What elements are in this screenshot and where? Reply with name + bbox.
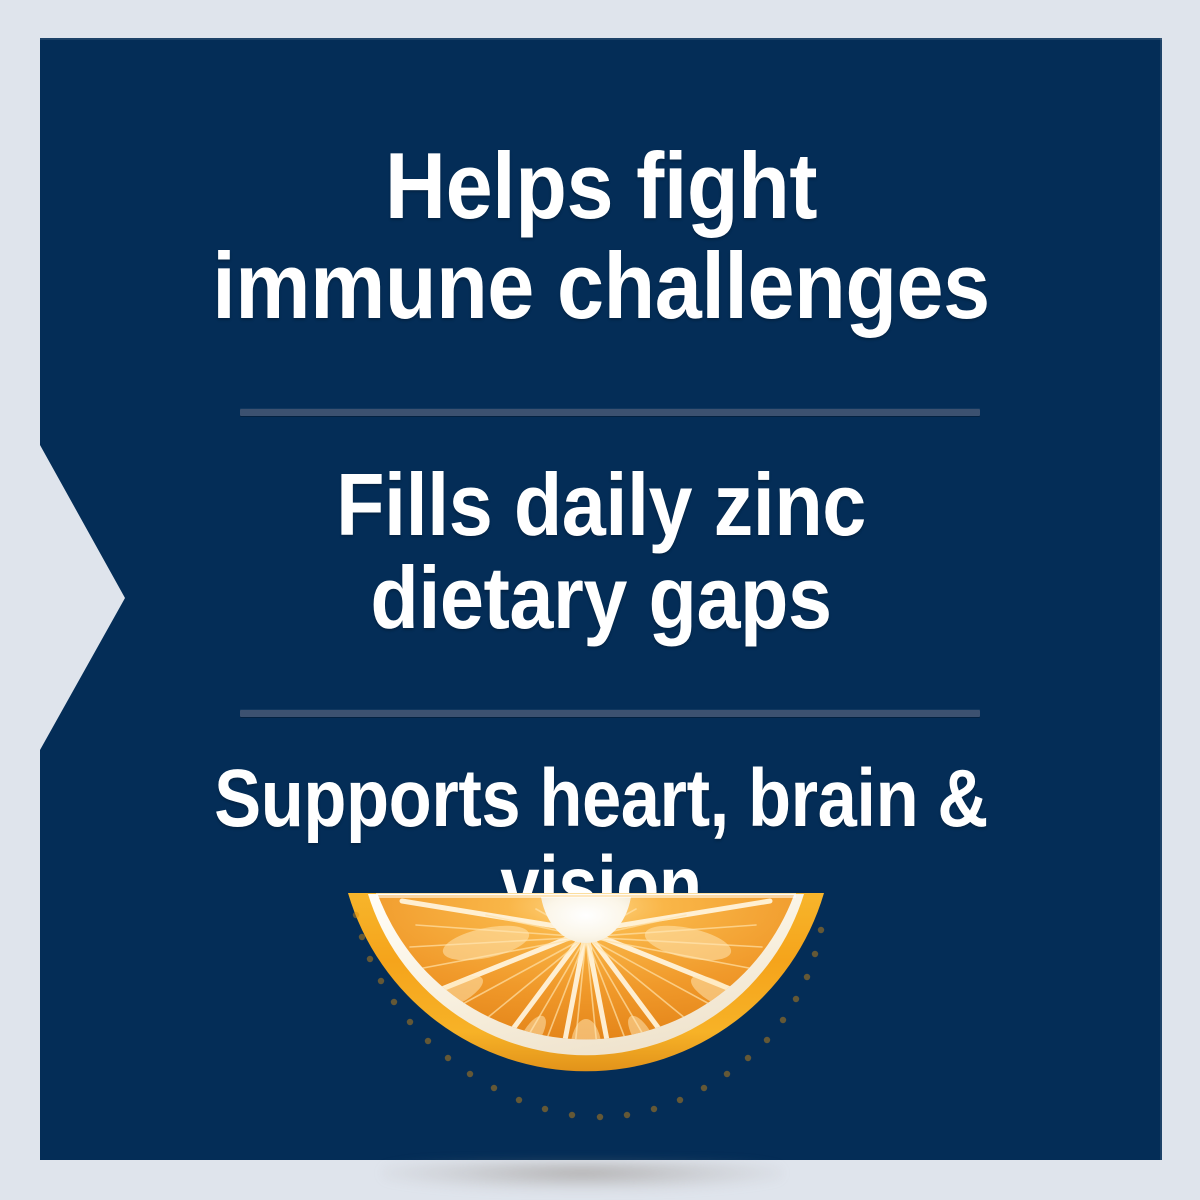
panel-top-bevel xyxy=(40,38,1162,40)
claim-divider-2 xyxy=(240,710,980,717)
product-claims-banner: Helps fight immune challenges Fills dail… xyxy=(0,0,1200,1200)
orange-slice-photo xyxy=(336,885,836,1187)
panel-right-bevel xyxy=(1160,38,1162,1160)
orange-slice-icon xyxy=(336,885,836,1187)
claim-divider-1 xyxy=(240,409,980,416)
